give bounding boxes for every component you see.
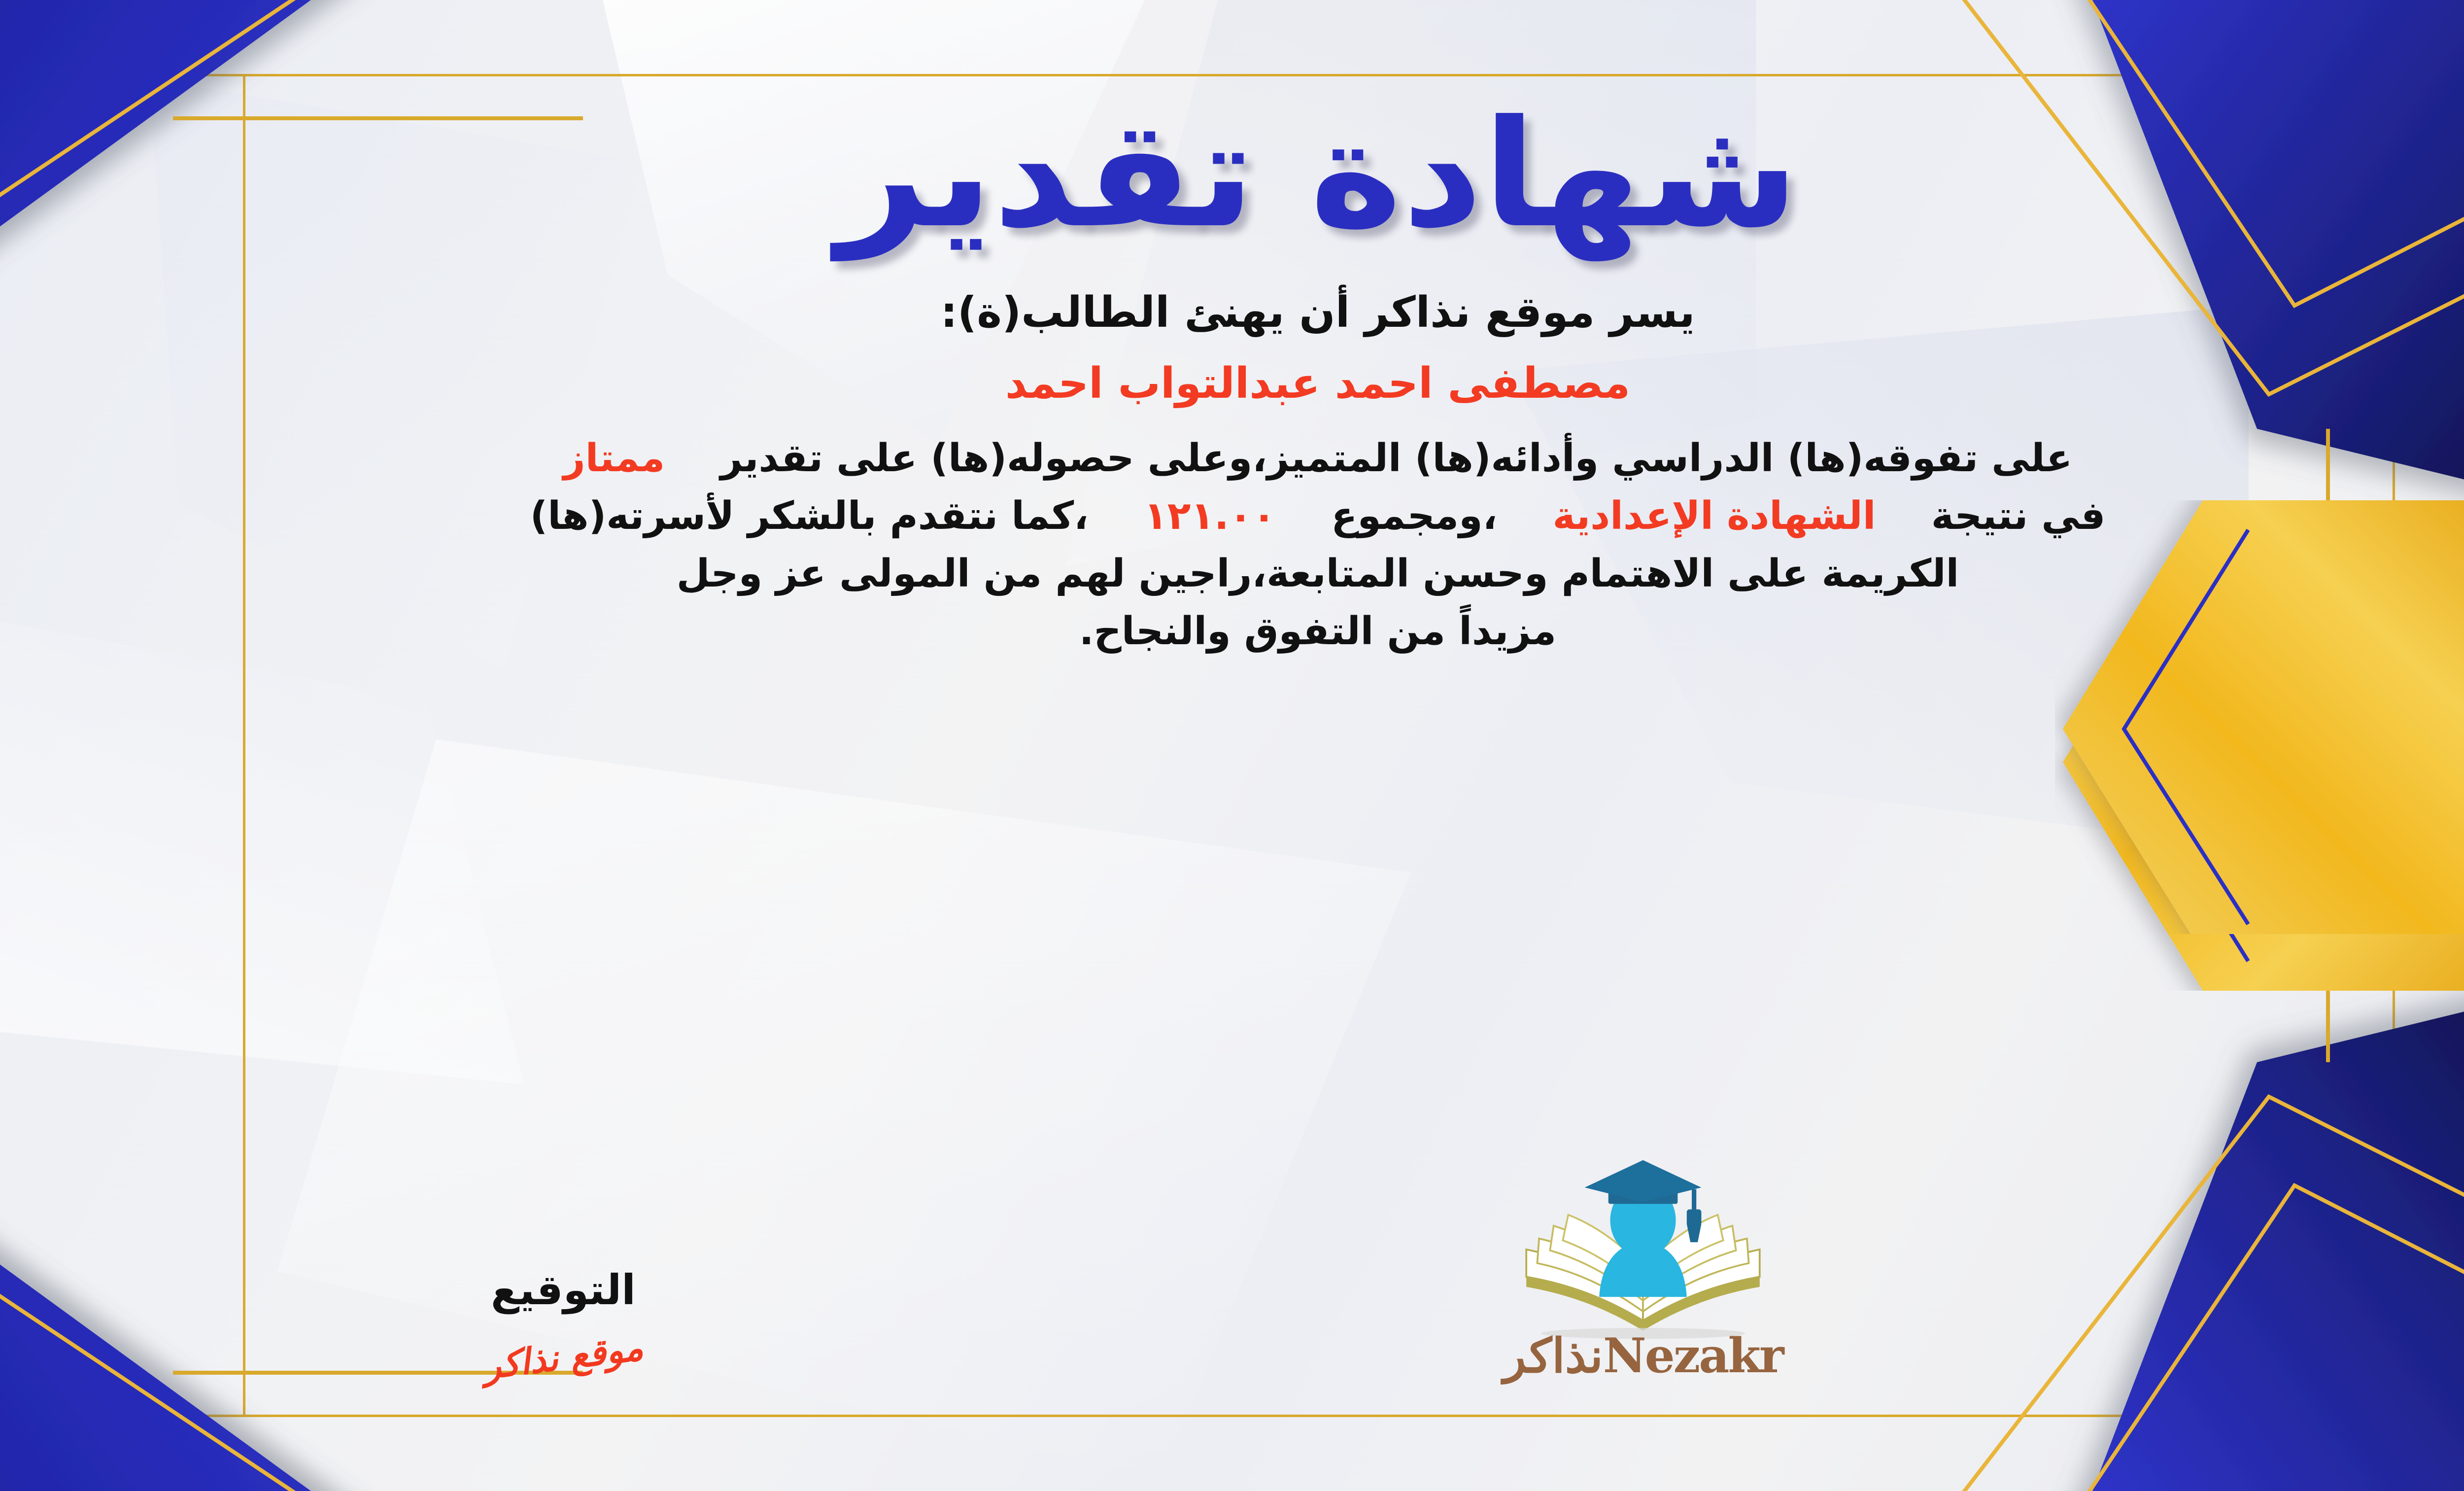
grade-value: ممتاز [563, 436, 665, 481]
certificate-footer: التوقيع موقع نذاكر [258, 1158, 2378, 1397]
body-line-2-suffix: ،كما نتقدم بالشكر لأسرته(ها) [530, 494, 1089, 538]
signature-mark: موقع نذاكر [481, 1326, 645, 1387]
signature-label: التوقيع [491, 1266, 636, 1314]
logo-wordmark-latin: Nezakr [1603, 1328, 1783, 1384]
body-line-1-text: على تفوقه(ها) الدراسي وأدائه(ها) المتميز… [720, 436, 2073, 481]
congratulation-line: يسر موقع نذاكر أن يهنئ الطالب(ة): [941, 288, 1695, 337]
brand-logo: Nezakrنذاكر [854, 1158, 2432, 1397]
body-line-4: مزيداً من التفوق والنجاح. [267, 603, 2369, 660]
student-name: مصطفى احمد عبدالتواب احمد [1005, 359, 1630, 408]
body-line-2-prefix: في نتيجة [1931, 494, 2106, 538]
exam-name: الشهادة الإعدادية [1553, 494, 1876, 538]
gold-frame-bottom [66, 1415, 2232, 1417]
certificate-content: شهادة تقدير يسر موقع نذاكر أن يهنئ الطال… [258, 79, 2378, 1412]
gold-frame-top [66, 74, 2232, 76]
certificate-body: على تفوقه(ها) الدراسي وأدائه(ها) المتميز… [258, 430, 2378, 660]
body-line-3: الكريمة على الاهتمام وحسن المتابعة،راجين… [267, 545, 2369, 603]
logo-wordmark-arabic: نذاكر [1503, 1328, 1603, 1384]
graduate-book-logo-icon [1505, 1158, 1781, 1341]
gold-frame-left [243, 74, 245, 1417]
certificate-title: شهادة تقدير [837, 98, 1799, 251]
body-line-1: على تفوقه(ها) الدراسي وأدائه(ها) المتميز… [267, 430, 2369, 487]
signature-block: التوقيع موقع نذاكر [273, 1266, 854, 1397]
total-score: ١٢١.٠٠ [1144, 494, 1276, 538]
body-line-2: في نتيجة الشهادة الإعدادية ،ومجموع ١٢١.٠… [267, 487, 2369, 545]
logo-wordmark: Nezakrنذاكر [1503, 1328, 1782, 1384]
body-line-2-mid: ،ومجموع [1331, 494, 1497, 538]
certificate-page: شهادة تقدير يسر موقع نذاكر أن يهنئ الطال… [0, 0, 2464, 1491]
